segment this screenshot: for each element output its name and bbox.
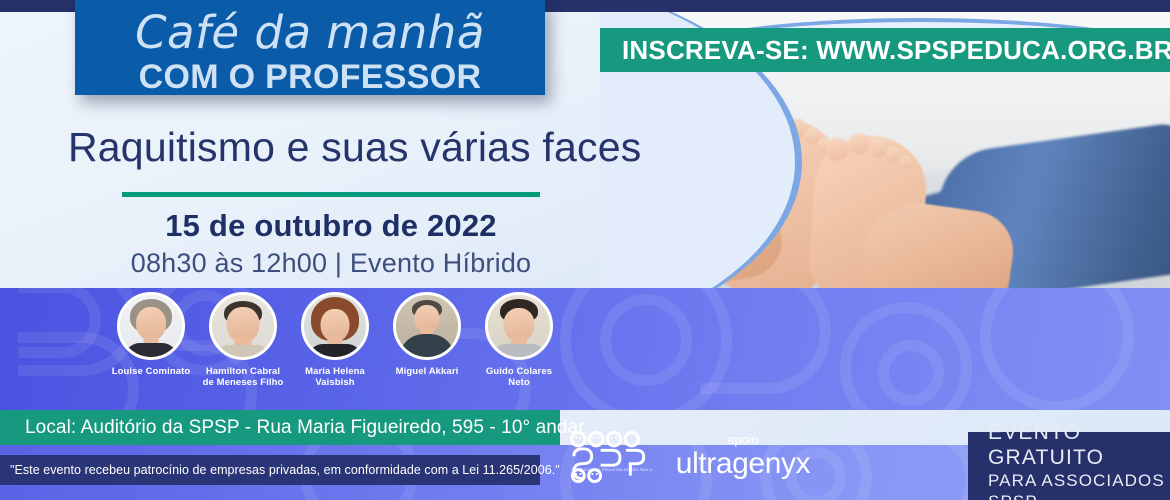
watermark-shape bbox=[880, 445, 977, 500]
avatar bbox=[117, 292, 185, 360]
registration-bar[interactable]: INSCREVA-SE: WWW.SPSPEDUCA.ORG.BR bbox=[600, 28, 1170, 72]
avatar bbox=[393, 292, 461, 360]
sponsor-logo: ultragenyx bbox=[658, 447, 828, 481]
speaker-item: Miguel Akkari bbox=[381, 292, 473, 410]
speaker-item: Louise Cominato bbox=[105, 292, 197, 410]
speaker-name: Hamilton Cabralde Meneses Filho bbox=[195, 366, 291, 388]
speaker-item: Guido ColaresNeto bbox=[473, 292, 565, 410]
series-title-script: Café da manhã bbox=[75, 8, 545, 58]
avatar bbox=[301, 292, 369, 360]
legal-disclaimer-text: "Este evento recebeu patrocínio de empre… bbox=[0, 463, 560, 477]
free-event-badge-line2: PARA ASSOCIADOS SPSP bbox=[988, 470, 1170, 500]
legal-disclaimer-bar: "Este evento recebeu patrocínio de empre… bbox=[0, 455, 540, 485]
watermark-shape bbox=[878, 340, 944, 406]
free-event-badge-line1: EVENTO GRATUITO bbox=[988, 420, 1170, 470]
spsp-logo bbox=[566, 428, 656, 486]
watermark-shape bbox=[700, 288, 831, 394]
event-time: 08h30 às 12h00 | Evento Híbrido bbox=[122, 248, 540, 279]
series-title-caps: COM O PROFESSOR bbox=[75, 58, 545, 96]
location-text: Local: Auditório da SPSP - Rua Maria Fig… bbox=[0, 417, 589, 439]
speakers-band: Louise Cominato Hamilton Cabralde Menese… bbox=[0, 288, 1170, 410]
event-headline: Raquitismo e suas várias faces bbox=[68, 124, 641, 171]
registration-url-text[interactable]: INSCREVA-SE: WWW.SPSPEDUCA.ORG.BR bbox=[600, 35, 1170, 66]
watermark-shape bbox=[980, 288, 1134, 410]
avatar bbox=[209, 292, 277, 360]
green-divider bbox=[122, 192, 540, 197]
event-date: 15 de outubro de 2022 bbox=[122, 208, 540, 244]
event-banner: Café da manhã COM O PROFESSOR INSCREVA-S… bbox=[0, 0, 1170, 500]
speaker-name: Miguel Akkari bbox=[379, 366, 475, 377]
location-bar: Local: Auditório da SPSP - Rua Maria Fig… bbox=[0, 410, 560, 445]
speaker-item: Maria HelenaVaisbish bbox=[289, 292, 381, 410]
speakers-list: Louise Cominato Hamilton Cabralde Menese… bbox=[105, 292, 565, 410]
free-event-badge: EVENTO GRATUITO PARA ASSOCIADOS SPSP bbox=[968, 432, 1170, 500]
spsp-logo-subtitle: SOCIEDADE DE PEDIATRIA DE SÃO PAULO bbox=[562, 468, 662, 472]
avatar bbox=[485, 292, 553, 360]
support-label: apoio bbox=[688, 432, 798, 447]
speaker-item: Hamilton Cabralde Meneses Filho bbox=[197, 292, 289, 410]
speaker-name: Maria HelenaVaisbish bbox=[287, 366, 383, 388]
speaker-name: Louise Cominato bbox=[103, 366, 199, 377]
watermark-shape bbox=[600, 294, 692, 386]
series-title-box: Café da manhã COM O PROFESSOR bbox=[75, 0, 545, 95]
speaker-name: Guido ColaresNeto bbox=[471, 366, 567, 388]
